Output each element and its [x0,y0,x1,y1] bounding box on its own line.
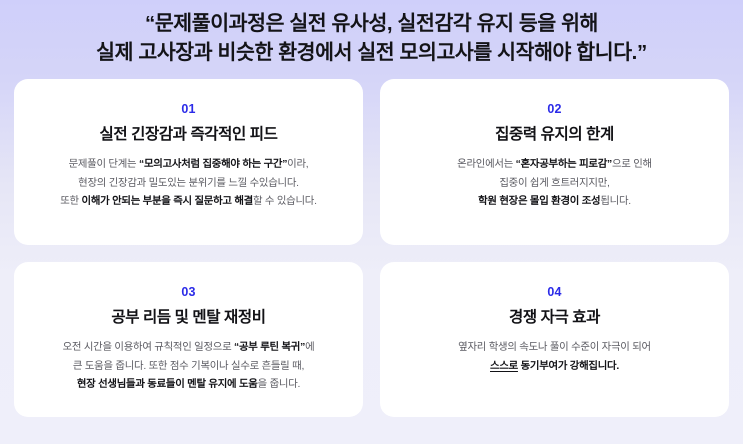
card-body-text: 집중이 쉽게 흐트러지지만, [499,178,609,189]
card-number: 02 [398,103,711,116]
card-body-text: 할 수 있습니다. [253,196,317,207]
promo-page: “문제풀이과정은 실전 유사성, 실전감각 유지 등을 위해 실제 고사장과 비… [0,0,743,444]
benefit-card: 04경쟁 자극 효과옆자리 학생의 속도나 풀이 수준이 자극이 되어스스로 동… [380,262,729,417]
card-body-line: 큰 도움을 줍니다. 또한 점수 기복이나 실수로 흔들릴 때, [32,358,345,377]
card-body-text: 됩니다. [600,196,631,207]
card-body-text: 현장의 긴장감과 밀도있는 분위기를 느낄 수있습니다. [78,178,299,189]
card-body-text: 으로 인해 [612,159,652,170]
card-body-line: 현장의 긴장감과 밀도있는 분위기를 느낄 수있습니다. [32,175,345,194]
card-body-text: 온라인에서는 [457,159,516,170]
card-body-emphasis: 동기부여가 강해집니다. [518,361,619,372]
card-body-line: 학원 현장은 몰입 환경이 조성됩니다. [398,193,711,212]
benefit-card: 03공부 리듬 및 멘탈 재정비오전 시간을 이용하여 규칙적인 일정으로 “공… [14,262,363,417]
card-body-text: 또한 [60,196,81,207]
card-body: 옆자리 학생의 속도나 풀이 수준이 자극이 되어스스로 동기부여가 강해집니다… [398,339,711,376]
card-body-line: 또한 이해가 안되는 부분을 즉시 질문하고 해결할 수 있습니다. [32,193,345,212]
page-title-line-2: 실제 고사장과 비슷한 환경에서 실전 모의고사를 시작해야 합니다.” [0,38,743,67]
card-body-line: 현장 선생님들과 동료들이 멘탈 유지에 도움을 줍니다. [32,376,345,395]
card-body-emphasis: “공부 루틴 복귀” [234,342,305,353]
card-title: 경쟁 자극 효과 [398,308,711,327]
card-number: 03 [32,286,345,299]
card-body-line: 스스로 동기부여가 강해집니다. [398,358,711,377]
card-body-emphasis: 이해가 안되는 부분을 즉시 질문하고 해결 [82,196,253,207]
card-body-line: 온라인에서는 “혼자공부하는 피로감”으로 인해 [398,156,711,175]
card-title: 공부 리듬 및 멘탈 재정비 [32,308,345,327]
card-body-line: 옆자리 학생의 속도나 풀이 수준이 자극이 되어 [398,339,711,358]
card-body-underline-emphasis: 스스로 [490,361,518,372]
card-body-text: 에 [305,342,314,353]
card-title: 실전 긴장감과 즉각적인 피드 [32,125,345,144]
card-body-emphasis: 학원 현장은 몰입 환경이 조성 [478,196,600,207]
benefit-card: 01실전 긴장감과 즉각적인 피드문제풀이 단계는 “모의고사처럼 집중해야 하… [14,79,363,245]
card-body-text: 문제풀이 단계는 [69,159,139,170]
card-body-text: 이라, [287,159,308,170]
card-body-text: 옆자리 학생의 속도나 풀이 수준이 자극이 되어 [458,342,651,353]
card-body-emphasis: 현장 선생님들과 동료들이 멘탈 유지에 도움 [77,379,258,390]
benefit-card-grid: 01실전 긴장감과 즉각적인 피드문제풀이 단계는 “모의고사처럼 집중해야 하… [14,79,729,417]
card-title: 집중력 유지의 한계 [398,125,711,144]
card-body-line: 오전 시간을 이용하여 규칙적인 일정으로 “공부 루틴 복귀”에 [32,339,345,358]
card-body-line: 문제풀이 단계는 “모의고사처럼 집중해야 하는 구간”이라, [32,156,345,175]
page-title-line-1: “문제풀이과정은 실전 유사성, 실전감각 유지 등을 위해 [0,9,743,38]
benefit-card: 02집중력 유지의 한계온라인에서는 “혼자공부하는 피로감”으로 인해집중이 … [380,79,729,245]
card-body-text: 을 줍니다. [258,379,301,390]
card-number: 01 [32,103,345,116]
card-number: 04 [398,286,711,299]
page-title: “문제풀이과정은 실전 유사성, 실전감각 유지 등을 위해 실제 고사장과 비… [0,0,743,67]
card-body: 문제풀이 단계는 “모의고사처럼 집중해야 하는 구간”이라,현장의 긴장감과 … [32,156,345,212]
card-body-emphasis: “혼자공부하는 피로감” [516,159,612,170]
card-body-line: 집중이 쉽게 흐트러지지만, [398,175,711,194]
card-body: 오전 시간을 이용하여 규칙적인 일정으로 “공부 루틴 복귀”에큰 도움을 줍… [32,339,345,395]
card-body-text: 큰 도움을 줍니다. 또한 점수 기복이나 실수로 흔들릴 때, [73,361,304,372]
card-body: 온라인에서는 “혼자공부하는 피로감”으로 인해집중이 쉽게 흐트러지지만,학원… [398,156,711,212]
card-body-emphasis: “모의고사처럼 집중해야 하는 구간” [139,159,287,170]
card-body-text: 오전 시간을 이용하여 규칙적인 일정으로 [63,342,234,353]
